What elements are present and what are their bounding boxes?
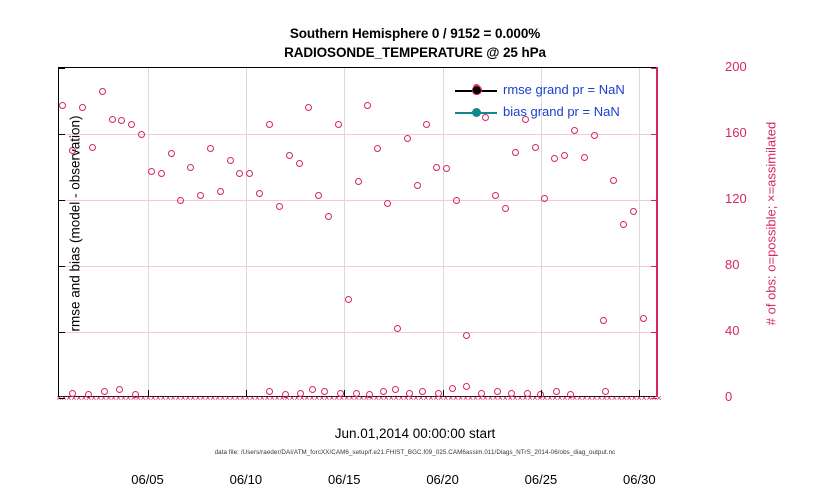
obs-possible-marker bbox=[433, 164, 440, 171]
y-tick-mark-right bbox=[651, 398, 657, 399]
gridline-h bbox=[59, 332, 657, 333]
obs-possible-marker bbox=[187, 164, 194, 171]
legend-label: bias grand pr = NaN bbox=[503, 104, 620, 119]
obs-possible-marker bbox=[305, 104, 312, 111]
obs-possible-marker bbox=[463, 383, 470, 390]
obs-possible-marker bbox=[630, 208, 637, 215]
legend-item[interactable]: bias grand pr = NaN bbox=[455, 102, 655, 124]
obs-possible-marker bbox=[610, 177, 617, 184]
obs-possible-marker bbox=[315, 192, 322, 199]
obs-possible-marker bbox=[325, 213, 332, 220]
obs-possible-marker bbox=[109, 116, 116, 123]
obs-possible-marker bbox=[345, 296, 352, 303]
gridline-v bbox=[443, 68, 444, 396]
obs-possible-marker bbox=[384, 200, 391, 207]
y-tick-mark-right bbox=[651, 134, 657, 135]
title-line-2: RADIOSONDE_TEMPERATURE @ 25 hPa bbox=[0, 43, 830, 62]
legend-ring-marker bbox=[472, 85, 482, 95]
obs-possible-marker bbox=[99, 88, 106, 95]
title-line-1: Southern Hemisphere 0 / 9152 = 0.000% bbox=[0, 24, 830, 43]
obs-possible-marker bbox=[236, 170, 243, 177]
legend-dot-marker bbox=[472, 108, 481, 117]
x-tick-mark bbox=[246, 390, 247, 396]
obs-possible-marker bbox=[296, 160, 303, 167]
obs-possible-marker bbox=[158, 170, 165, 177]
y-tick-mark-right bbox=[651, 68, 657, 69]
obs-possible-marker bbox=[463, 332, 470, 339]
x-axis-label: Jun.01,2014 00:00:00 start bbox=[0, 426, 830, 441]
obs-possible-marker bbox=[512, 149, 519, 156]
obs-possible-marker bbox=[423, 121, 430, 128]
obs-possible-marker bbox=[600, 317, 607, 324]
obs-possible-marker bbox=[591, 132, 598, 139]
obs-possible-marker bbox=[532, 144, 539, 151]
obs-possible-marker bbox=[227, 157, 234, 164]
obs-possible-marker bbox=[256, 190, 263, 197]
legend-label: rmse grand pr = NaN bbox=[503, 82, 625, 97]
y-tick-mark-left bbox=[59, 134, 65, 135]
obs-possible-marker bbox=[177, 197, 184, 204]
obs-possible-marker bbox=[492, 192, 499, 199]
gridline-v bbox=[246, 68, 247, 396]
obs-possible-marker bbox=[266, 121, 273, 128]
obs-possible-marker bbox=[561, 152, 568, 159]
obs-possible-marker bbox=[581, 154, 588, 161]
plot-area: 00.20.40.60.81 04080120160200 06/0506/10… bbox=[58, 67, 658, 397]
x-tick-mark bbox=[344, 390, 345, 396]
obs-possible-marker bbox=[394, 325, 401, 332]
obs-possible-marker bbox=[374, 145, 381, 152]
y-axis-left-label: rmse and bias (model - observation) bbox=[68, 0, 83, 454]
x-tick-label: 06/05 bbox=[118, 472, 178, 487]
y-tick-mark-left bbox=[59, 68, 65, 69]
y-tick-mark-left bbox=[59, 332, 65, 333]
obs-possible-marker bbox=[551, 155, 558, 162]
obs-possible-marker bbox=[148, 168, 155, 175]
gridline-h bbox=[59, 134, 657, 135]
chart-title: Southern Hemisphere 0 / 9152 = 0.000% RA… bbox=[0, 24, 830, 62]
x-tick-label: 06/20 bbox=[413, 472, 473, 487]
y-axis-right-label: # of obs: o=possible; ×=assimilated bbox=[764, 0, 779, 454]
obs-possible-marker bbox=[89, 144, 96, 151]
x-tick-label: 06/15 bbox=[314, 472, 374, 487]
x-tick-mark bbox=[148, 390, 149, 396]
obs-possible-marker bbox=[197, 192, 204, 199]
y-tick-mark-left bbox=[59, 200, 65, 201]
x-tick-mark bbox=[639, 390, 640, 396]
obs-possible-marker bbox=[276, 203, 283, 210]
obs-possible-marker bbox=[414, 182, 421, 189]
gridline-v bbox=[344, 68, 345, 396]
obs-possible-marker bbox=[286, 152, 293, 159]
obs-possible-marker bbox=[449, 385, 456, 392]
obs-possible-marker bbox=[502, 205, 509, 212]
right-axis-spine bbox=[656, 67, 658, 397]
obs-possible-marker bbox=[640, 315, 647, 322]
obs-possible-marker bbox=[246, 170, 253, 177]
legend-item[interactable]: rmse grand pr = NaN bbox=[455, 80, 655, 102]
obs-possible-marker bbox=[59, 102, 66, 109]
x-tick-mark bbox=[443, 390, 444, 396]
obs-possible-marker bbox=[138, 131, 145, 138]
obs-possible-marker bbox=[217, 188, 224, 195]
y-tick-mark-right bbox=[651, 266, 657, 267]
gridline-h bbox=[59, 266, 657, 267]
data-file-footer: data file: /Users/raeder/DAI/ATM_forcXX/… bbox=[0, 449, 830, 456]
y-tick-mark-left bbox=[59, 398, 65, 399]
obs-possible-marker bbox=[443, 165, 450, 172]
obs-possible-marker bbox=[404, 135, 411, 142]
obs-possible-marker bbox=[355, 178, 362, 185]
obs-possible-marker bbox=[207, 145, 214, 152]
gridline-h bbox=[59, 200, 657, 201]
legend: rmse grand pr = NaNbias grand pr = NaN bbox=[455, 80, 655, 124]
x-tick-label: 06/25 bbox=[511, 472, 571, 487]
y-tick-mark-right bbox=[651, 200, 657, 201]
obs-possible-marker bbox=[453, 197, 460, 204]
obs-possible-marker bbox=[118, 117, 125, 124]
obs-possible-marker bbox=[335, 121, 342, 128]
x-tick-mark bbox=[541, 390, 542, 396]
obs-possible-marker bbox=[168, 150, 175, 157]
x-tick-label: 06/30 bbox=[609, 472, 669, 487]
obs-possible-marker bbox=[620, 221, 627, 228]
y-tick-mark-right bbox=[651, 332, 657, 333]
obs-possible-marker bbox=[364, 102, 371, 109]
gridline-v bbox=[148, 68, 149, 396]
x-tick-label: 06/10 bbox=[216, 472, 276, 487]
y-tick-mark-left bbox=[59, 266, 65, 267]
obs-possible-marker bbox=[128, 121, 135, 128]
figure-root: Southern Hemisphere 0 / 9152 = 0.000% RA… bbox=[0, 0, 830, 470]
